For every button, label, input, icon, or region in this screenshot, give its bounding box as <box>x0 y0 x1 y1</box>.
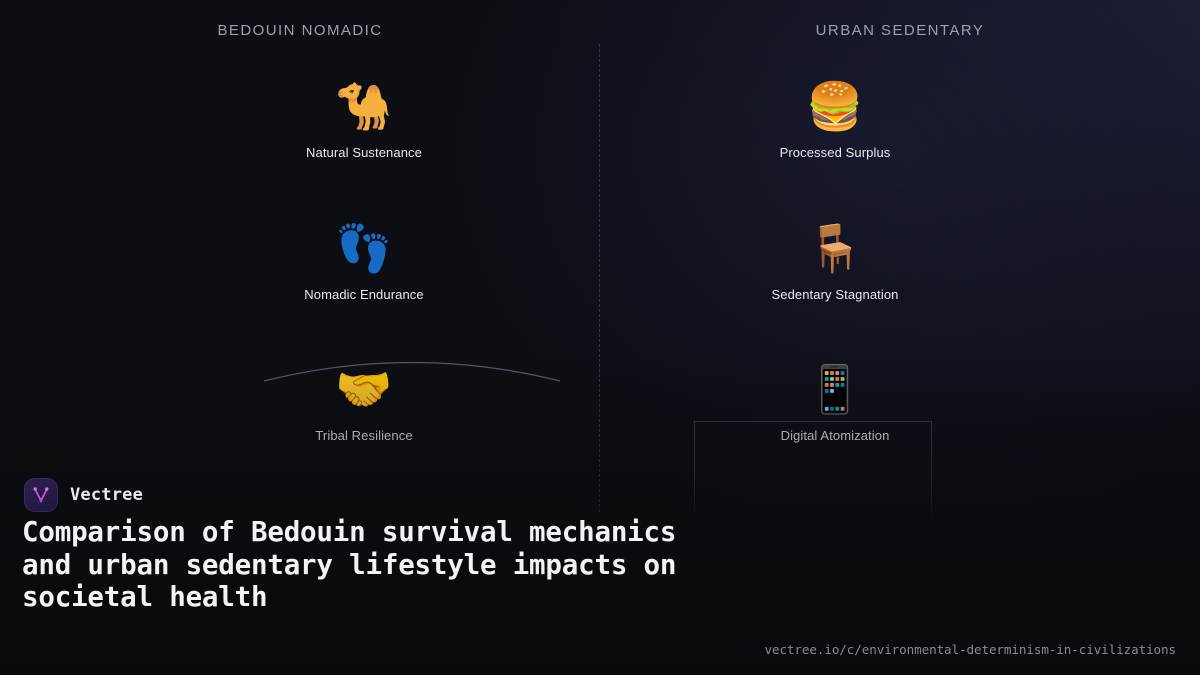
brand-name: Vectree <box>70 485 143 505</box>
brand-lockup[interactable]: Vectree <box>24 478 143 512</box>
headline: Comparison of Bedouin survival mechanics… <box>22 516 702 614</box>
vectree-tree-logo-icon <box>24 478 58 512</box>
source-url: vectree.io/c/environmental-determinism-i… <box>764 642 1176 657</box>
infographic-canvas: BEDOUIN NOMADIC URBAN SEDENTARY 🐪 Natura… <box>0 0 1200 675</box>
